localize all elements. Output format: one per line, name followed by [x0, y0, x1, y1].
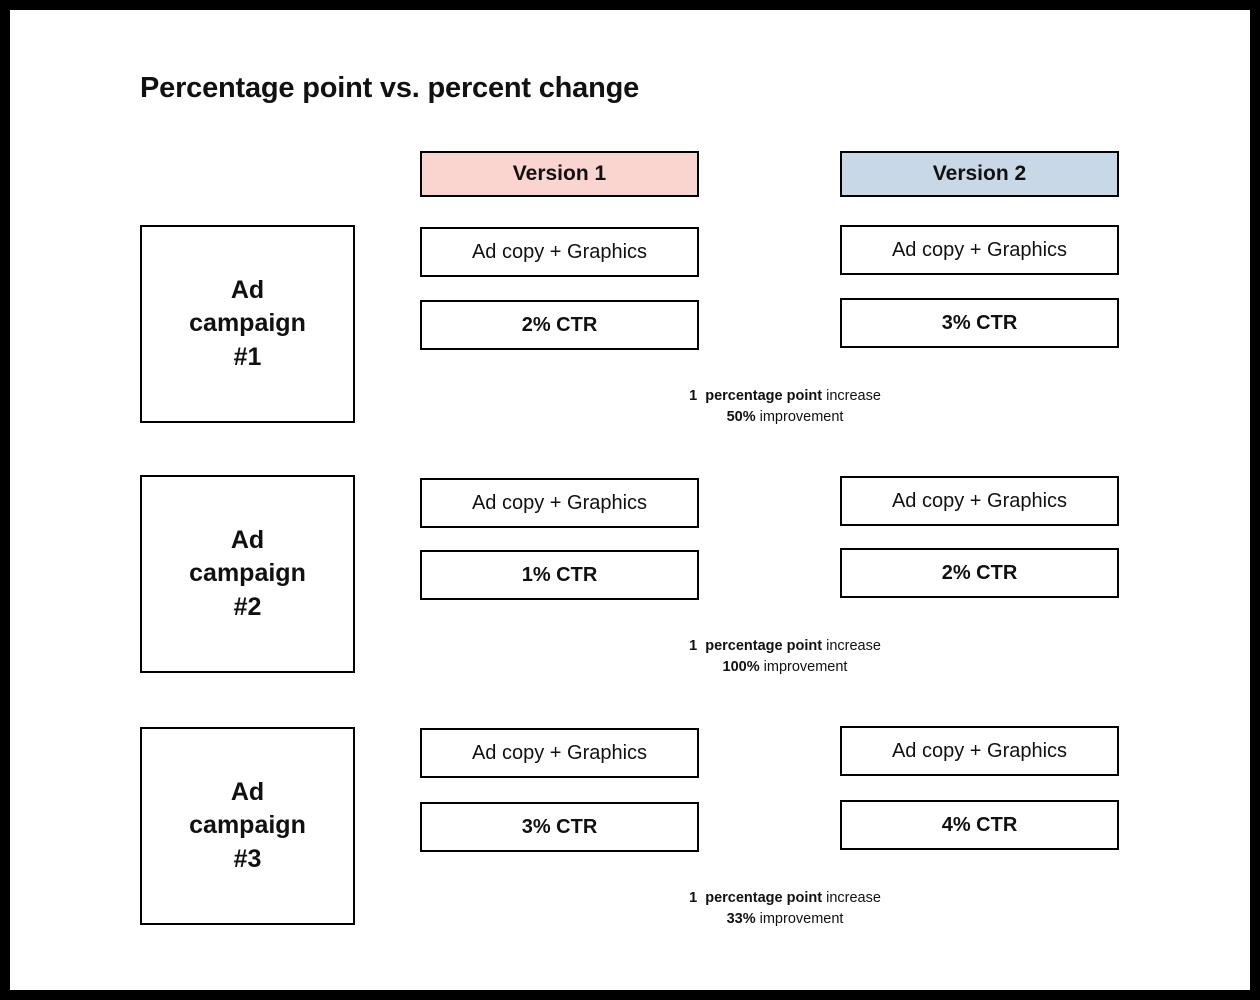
pp-unit: percentage point [705, 388, 822, 404]
ad-copy-cell-row3-version2: Ad copy + Graphics [840, 726, 1119, 776]
pp-value: 1 [689, 890, 697, 906]
ad-copy-label: Ad copy + Graphics [892, 740, 1067, 763]
pct-value: 33% [727, 911, 756, 927]
column-header-version-2: Version 2 [840, 151, 1119, 197]
pp-unit: percentage point [705, 638, 822, 654]
pp-value: 1 [689, 638, 697, 654]
pp-suffix: increase [826, 638, 881, 654]
annotation-row3: 1 percentage point increase 33% improvem… [565, 888, 1005, 929]
annotation-row2-line1: 1 percentage point increase [565, 636, 1005, 657]
annotation-row2: 1 percentage point increase 100% improve… [565, 636, 1005, 677]
annotation-row2-line2: 100% improvement [565, 657, 1005, 678]
ctr-cell-row2-version2: 2% CTR [840, 548, 1119, 598]
ad-copy-cell-row1-version2: Ad copy + Graphics [840, 225, 1119, 275]
ad-copy-cell-row2-version1: Ad copy + Graphics [420, 478, 699, 528]
pp-unit: percentage point [705, 890, 822, 906]
column-header-version-1: Version 1 [420, 151, 699, 197]
pp-value: 1 [689, 388, 697, 404]
campaign-box-2-label: Ad campaign #2 [189, 524, 306, 625]
ctr-value: 4% CTR [942, 814, 1018, 837]
pp-suffix: increase [826, 388, 881, 404]
ctr-cell-row2-version1: 1% CTR [420, 550, 699, 600]
annotation-row1: 1 percentage point increase 50% improvem… [565, 386, 1005, 427]
page-title: Percentage point vs. percent change [140, 72, 639, 105]
ad-copy-cell-row1-version1: Ad copy + Graphics [420, 227, 699, 277]
ad-copy-label: Ad copy + Graphics [472, 742, 647, 765]
ctr-cell-row3-version2: 4% CTR [840, 800, 1119, 850]
ctr-cell-row1-version1: 2% CTR [420, 300, 699, 350]
ctr-value: 1% CTR [522, 564, 598, 587]
pp-suffix: increase [826, 890, 881, 906]
ad-copy-cell-row3-version1: Ad copy + Graphics [420, 728, 699, 778]
campaign-box-2: Ad campaign #2 [140, 475, 355, 673]
annotation-row3-line1: 1 percentage point increase [565, 888, 1005, 909]
pct-suffix: improvement [760, 911, 844, 927]
ctr-cell-row3-version1: 3% CTR [420, 802, 699, 852]
ad-copy-label: Ad copy + Graphics [472, 492, 647, 515]
pct-suffix: improvement [764, 659, 848, 675]
ctr-value: 2% CTR [942, 562, 1018, 585]
annotation-row1-line2: 50% improvement [565, 407, 1005, 428]
ad-copy-label: Ad copy + Graphics [472, 241, 647, 264]
annotation-row1-line1: 1 percentage point increase [565, 386, 1005, 407]
campaign-box-3: Ad campaign #3 [140, 727, 355, 925]
ad-copy-label: Ad copy + Graphics [892, 490, 1067, 513]
diagram-canvas: Percentage point vs. percent change Vers… [10, 10, 1250, 990]
pct-suffix: improvement [760, 409, 844, 425]
campaign-box-1-label: Ad campaign #1 [189, 274, 306, 375]
pct-value: 100% [723, 659, 760, 675]
ctr-value: 3% CTR [942, 312, 1018, 335]
ad-copy-cell-row2-version2: Ad copy + Graphics [840, 476, 1119, 526]
ctr-value: 3% CTR [522, 816, 598, 839]
column-header-version-1-label: Version 1 [513, 162, 606, 186]
ad-copy-label: Ad copy + Graphics [892, 239, 1067, 262]
pct-value: 50% [727, 409, 756, 425]
campaign-box-1: Ad campaign #1 [140, 225, 355, 423]
ctr-cell-row1-version2: 3% CTR [840, 298, 1119, 348]
campaign-box-3-label: Ad campaign #3 [189, 776, 306, 877]
column-header-version-2-label: Version 2 [933, 162, 1026, 186]
annotation-row3-line2: 33% improvement [565, 909, 1005, 930]
ctr-value: 2% CTR [522, 314, 598, 337]
